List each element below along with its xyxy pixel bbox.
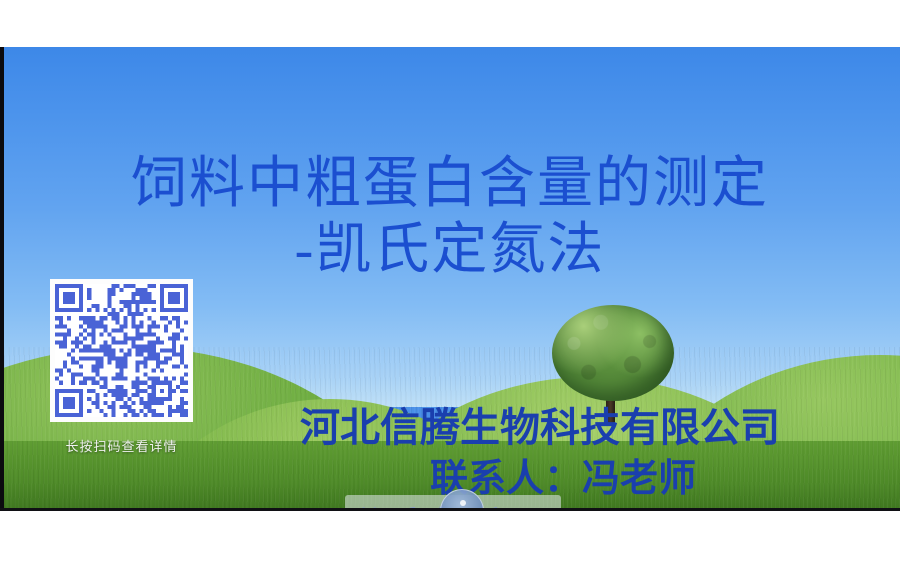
slide-title: 饲料中粗蛋白含量的测定 -凯氏定氮法 bbox=[0, 151, 900, 283]
stage-left-bezel bbox=[0, 47, 4, 511]
screenshot-canvas: 饲料中粗蛋白含量的测定 -凯氏定氮法 长按扫码查看详情 河北信腾生物科技有限公司… bbox=[0, 0, 900, 561]
stage-bottom-bezel bbox=[0, 508, 900, 511]
qr-code-block[interactable]: 长按扫码查看详情 bbox=[50, 279, 193, 455]
video-slide-stage[interactable]: 饲料中粗蛋白含量的测定 -凯氏定氮法 长按扫码查看详情 河北信腾生物科技有限公司… bbox=[0, 47, 900, 511]
qr-code-caption: 长按扫码查看详情 bbox=[50, 436, 193, 455]
tree-crown-icon bbox=[552, 305, 674, 401]
play-icon bbox=[460, 500, 466, 506]
qr-code-image[interactable] bbox=[50, 279, 193, 422]
qr-code-canvas bbox=[55, 284, 188, 417]
slide-title-line-2: -凯氏定氮法 bbox=[0, 217, 900, 283]
slide-title-line-1: 饲料中粗蛋白含量的测定 bbox=[0, 151, 900, 217]
company-name: 河北信腾生物科技有限公司 bbox=[300, 405, 900, 451]
